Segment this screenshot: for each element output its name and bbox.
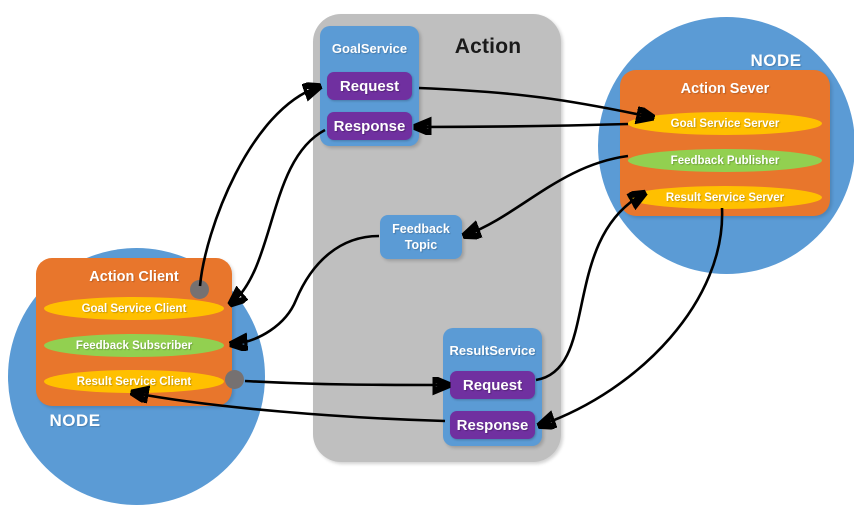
diagram-canvas: Action NODE Action Client Goal Service C… <box>0 0 854 480</box>
result-service-response-chip[interactable]: Response <box>450 411 535 439</box>
server-node-label: NODE <box>740 50 812 72</box>
feedback-topic-line2: Topic <box>405 238 437 252</box>
feedback-publisher-pill[interactable]: Feedback Publisher <box>628 149 822 172</box>
result-service-client-pill[interactable]: Result Service Client <box>44 370 224 393</box>
goal-service-response-chip[interactable]: Response <box>327 112 412 140</box>
result-client-connector-dot <box>225 370 244 389</box>
result-service-title: Result Service <box>443 333 542 369</box>
wire-goal-client-to-request <box>200 87 318 286</box>
result-service-title-line2: Service <box>489 343 535 359</box>
goal-service-request-chip[interactable]: Request <box>327 72 412 100</box>
result-service-title-line1: Result <box>450 343 490 359</box>
goal-service-title: Goal Service <box>320 31 419 67</box>
result-service-server-pill[interactable]: Result Service Server <box>628 186 822 209</box>
action-container-label: Action <box>428 32 548 62</box>
feedback-topic-box[interactable]: Feedback Topic <box>380 215 462 259</box>
feedback-topic-line1: Feedback <box>392 222 450 236</box>
goal-service-title-line1: Goal <box>332 41 361 57</box>
client-node-label: NODE <box>40 410 110 432</box>
goal-service-client-pill[interactable]: Goal Service Client <box>44 297 224 320</box>
feedback-subscriber-pill[interactable]: Feedback Subscriber <box>44 334 224 357</box>
result-service-request-chip[interactable]: Request <box>450 371 535 399</box>
action-server-title: Action Sever <box>620 78 830 100</box>
wire-response-to-goal-client <box>232 130 325 303</box>
goal-service-title-line2: Service <box>361 41 407 57</box>
goal-service-server-pill[interactable]: Goal Service Server <box>628 112 822 135</box>
goal-client-connector-dot <box>190 280 209 299</box>
